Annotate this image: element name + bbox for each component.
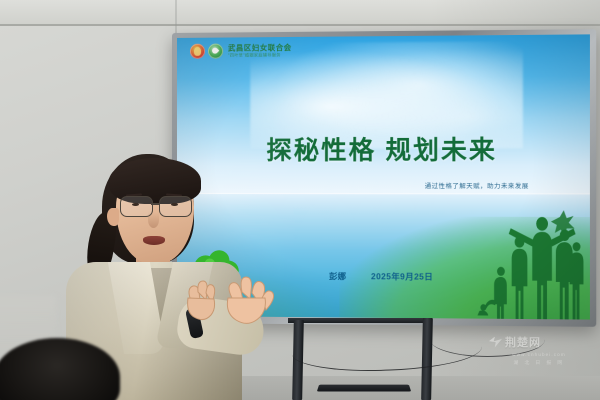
watermark-row: 荆楚网 <box>489 334 589 350</box>
slide-subtitle: 通过性格了解天赋，助力未来发展 <box>425 181 529 190</box>
slide-header: 武昌区妇女联合会 "四叶草"婚姻家庭辅导服务 <box>190 43 292 59</box>
presenter-name: 彭娜 <box>329 270 347 282</box>
mouth <box>143 236 165 245</box>
watermark-url: www.cnhubei.com <box>489 352 589 357</box>
watermark-subtitle: 湖 北 日 报 网 <box>489 359 589 366</box>
organization-name: 武昌区妇女联合会 <box>228 44 292 52</box>
four-leaf-clover-icon <box>208 44 223 59</box>
photo-scene: 武昌区妇女联合会 "四叶草"婚姻家庭辅导服务 探秘性格 规划未来 通过性格了解天… <box>0 0 600 400</box>
tv-stand-crossbar <box>288 318 430 323</box>
gesturing-hand <box>220 272 278 326</box>
presentation-date: 2025年9月25日 <box>371 270 433 283</box>
hand-holding-microphone <box>180 278 224 322</box>
tv-stand-base <box>317 385 411 392</box>
lens-right <box>159 196 192 217</box>
glasses-bridge <box>151 203 160 205</box>
organization-block: 武昌区妇女联合会 "四叶草"婚姻家庭辅导服务 <box>228 44 292 58</box>
womens-federation-seal-icon <box>190 44 205 59</box>
watermark: 荆楚网 www.cnhubei.com 湖 北 日 报 网 <box>489 334 589 366</box>
cnhubei-bird-logo <box>489 337 502 348</box>
watermark-name: 荆楚网 <box>505 334 541 350</box>
organization-subtitle: "四叶草"婚姻家庭辅导服务 <box>228 53 292 58</box>
nose <box>148 212 159 228</box>
family-silhouette-graphic <box>466 205 584 319</box>
